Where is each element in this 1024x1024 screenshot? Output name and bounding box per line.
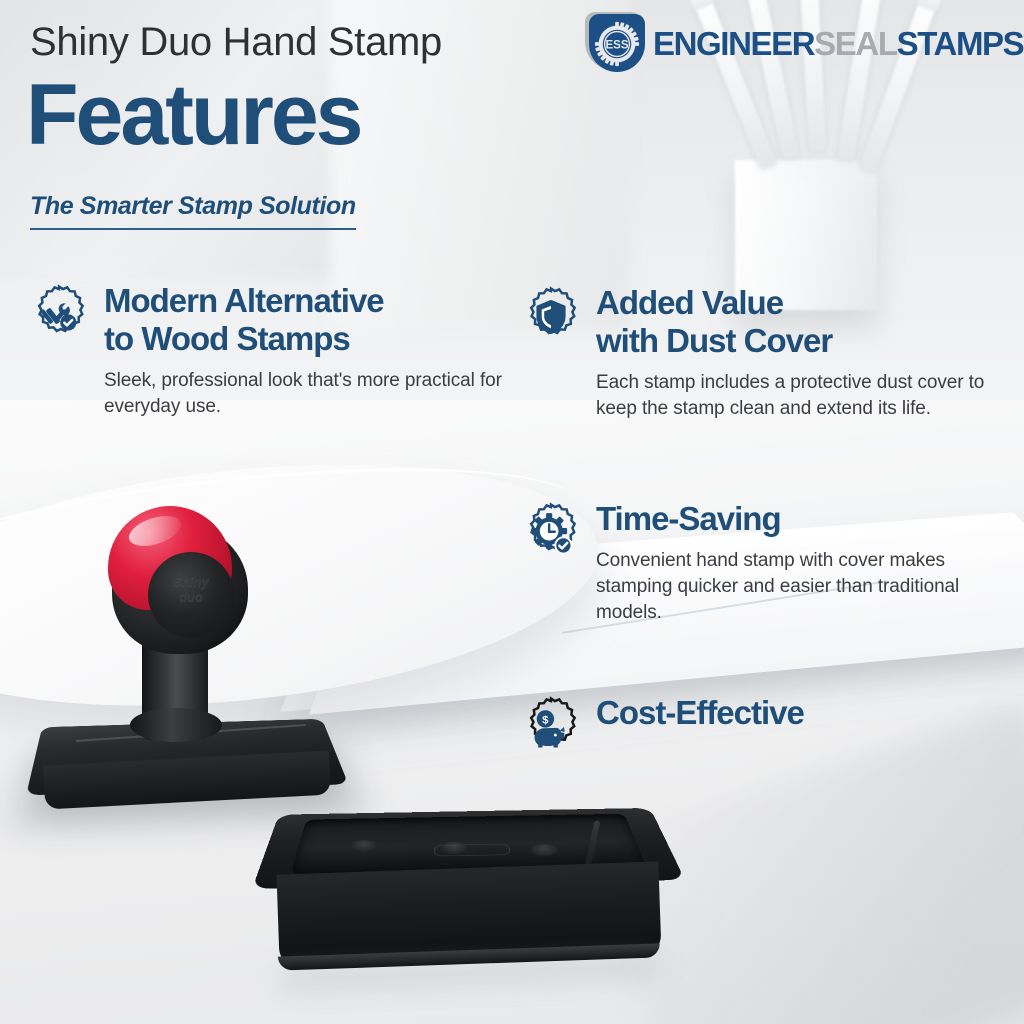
stamp-emboss-text: Shiny duo bbox=[158, 574, 224, 614]
stamp-emboss-line-1: Shiny bbox=[173, 574, 208, 589]
dust-cover-dimple bbox=[350, 840, 378, 852]
shield-badge-icon bbox=[520, 286, 582, 348]
feature-title: Added Value with Dust Cover bbox=[596, 284, 990, 360]
feature-title-line-1: Added Value bbox=[596, 284, 783, 321]
feature-title: Cost-Effective bbox=[596, 694, 804, 732]
feature-title-line-1: Modern Alternative bbox=[104, 282, 384, 319]
feature-description: Each stamp includes a protective dust co… bbox=[596, 370, 990, 422]
feature-title: Time-Saving bbox=[596, 500, 990, 538]
stamp-emboss-line-2: duo bbox=[179, 589, 203, 604]
dust-cover-dimple bbox=[530, 844, 558, 856]
product-dust-cover-image bbox=[258, 780, 678, 1010]
infographic-canvas: Shiny Duo Hand Stamp Features The Smarte… bbox=[0, 0, 1024, 1024]
feature-item-added-value-dust-cover: Added Value with Dust Cover Each stamp i… bbox=[520, 284, 990, 422]
feature-description: Convenient hand stamp with cover makes s… bbox=[596, 548, 990, 626]
subtitle: The Smarter Stamp Solution bbox=[30, 192, 356, 230]
feature-body: Cost-Effective bbox=[596, 694, 804, 732]
logo-wordmark: ENGINEERSEALSTAMPS.COM bbox=[653, 27, 1024, 60]
brand-logo[interactable]: ESS ENGINEERSEALSTAMPS.COM bbox=[585, 12, 1024, 74]
feature-title: Modern Alternative to Wood Stamps bbox=[104, 282, 508, 358]
feature-title-line-2: with Dust Cover bbox=[596, 322, 832, 359]
ess-badge-icon: ESS bbox=[585, 12, 647, 74]
gear-clock-check-badge-icon bbox=[520, 502, 582, 564]
feature-description: Sleek, professional look that's more pra… bbox=[104, 368, 508, 420]
logo-word-stamps: STAMPS bbox=[897, 27, 1024, 60]
gear-icon: ESS bbox=[594, 21, 640, 67]
dollar-sign-icon: $ bbox=[542, 714, 549, 726]
feature-title-line-2: to Wood Stamps bbox=[104, 320, 350, 357]
logo-word-seal: SEAL bbox=[814, 27, 896, 60]
page-title: Features bbox=[26, 72, 361, 158]
piggy-bank-badge-icon: $ bbox=[520, 696, 582, 758]
feature-item-modern-alternative: Modern Alternative to Wood Stamps Sleek,… bbox=[28, 282, 508, 420]
stamp-handle-collar bbox=[130, 708, 222, 742]
feature-body: Time-Saving Convenient hand stamp with c… bbox=[596, 500, 990, 626]
tools-check-badge-icon bbox=[28, 284, 90, 346]
ess-badge-label: ESS bbox=[605, 40, 628, 52]
feature-item-time-saving: Time-Saving Convenient hand stamp with c… bbox=[520, 500, 990, 626]
product-name: Shiny Duo Hand Stamp bbox=[30, 20, 442, 65]
dust-cover-embossed-logo bbox=[434, 844, 511, 857]
subtitle-wrapper: The Smarter Stamp Solution bbox=[30, 192, 356, 230]
logo-word-engineer: ENGINEER bbox=[653, 27, 814, 60]
feature-body: Added Value with Dust Cover Each stamp i… bbox=[596, 284, 990, 422]
feature-item-cost-effective: $ Cost-Effective bbox=[520, 694, 990, 758]
feature-body: Modern Alternative to Wood Stamps Sleek,… bbox=[104, 282, 508, 420]
